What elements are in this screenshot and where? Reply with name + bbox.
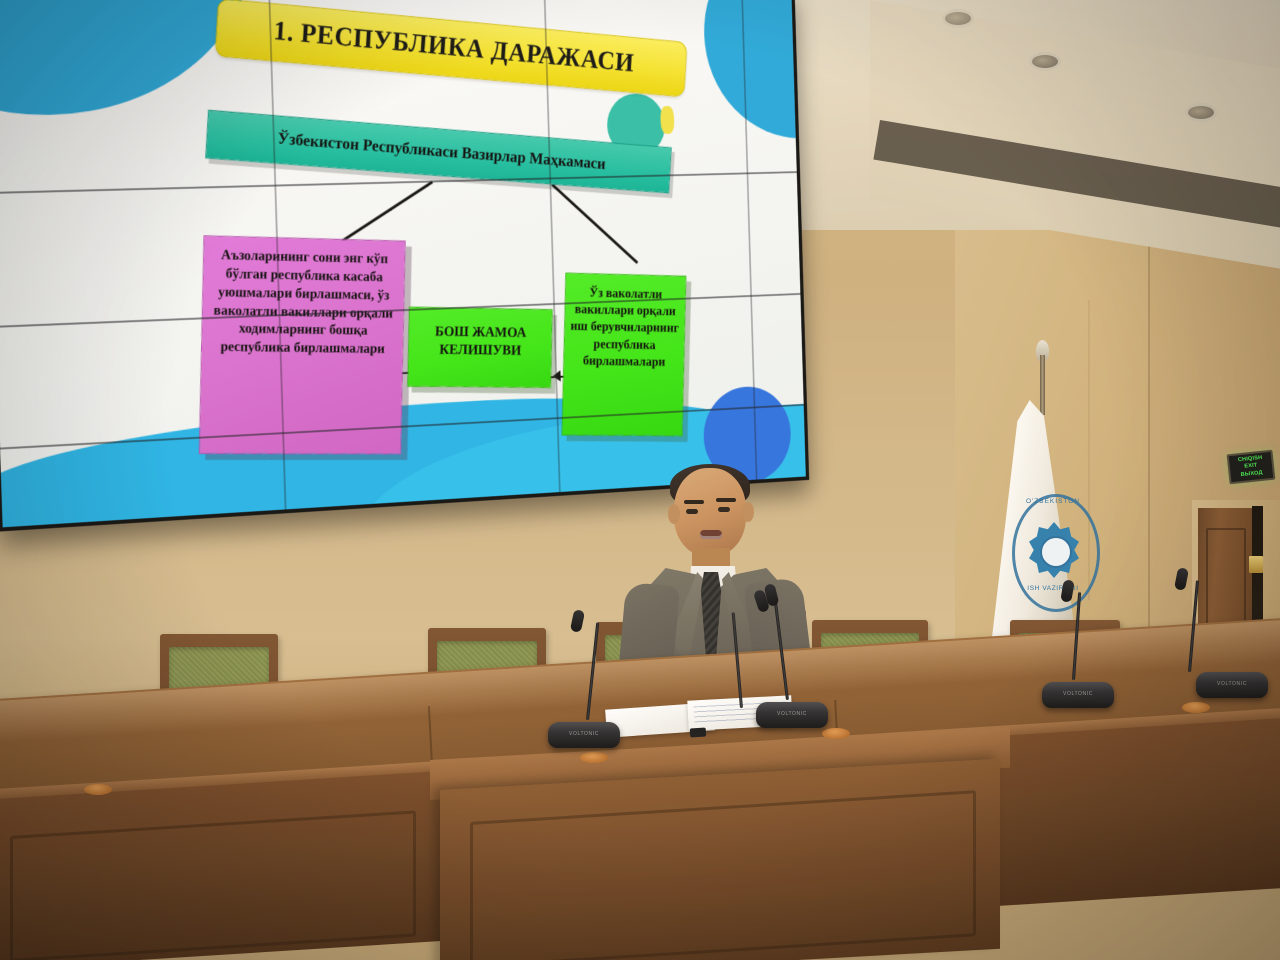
connector-line-right [551,183,638,264]
presenter-eye [686,509,698,514]
led-video-wall[interactable]: 1. РЕСПУБЛИКА ДАРАЖАСИ Ўзбекистон Респуб… [0,0,809,532]
exit-sign-line-3: ВЫХОД [1240,469,1263,478]
ceiling-speaker-icon [1032,55,1058,68]
microphone-base: VOLTONIC [1042,682,1114,708]
flag-emblem-bottom-text: ISH VAZIRLIGI [1005,585,1101,592]
table-cable-port [84,784,112,795]
video-wall-display: 1. РЕСПУБЛИКА ДАРАЖАСИ Ўзбекистон Респуб… [0,0,806,527]
table-cable-port [822,728,850,739]
presenter-mouth [700,530,722,539]
ceiling-speaker-icon [945,12,971,25]
paper-clip-icon [690,727,707,737]
flag-pole [1040,355,1045,415]
presentation-slide: 1. РЕСПУБЛИКА ДАРАЖАСИ Ўзбекистон Респуб… [0,0,806,527]
slide-title-text: 1. РЕСПУБЛИКА ДАРАЖАСИ [216,0,687,94]
ceiling-speaker-icon [1188,106,1214,119]
presenter-ear [668,504,680,524]
table-front-molding [10,810,416,960]
table-cable-port [580,752,608,763]
presenter-brow [716,498,736,502]
presenter-eye [718,507,730,512]
diagram-box-trade-unions-label: Аъзоларининг сони энг кўп бўлган республ… [202,236,405,359]
exit-sign: CHIQISH EXIT ВЫХОД [1227,450,1276,485]
decorative-blob-cyan-top-right [701,0,806,140]
microphone-base: VOLTONIC [1196,672,1268,698]
diagram-box-general-agreement: БОШ ЖАМОА КЕЛИШУВИ [407,307,552,388]
microphone-brand-label: VOLTONIC [756,711,828,717]
flag-emblem-top-text: O'ZBEKISTON [1012,498,1094,505]
presenter-head [674,468,746,556]
microphone-brand-label: VOLTONIC [1196,681,1268,687]
diagram-box-general-agreement-label: БОШ ЖАМОА КЕЛИШУВИ [409,308,552,361]
door-hinge-icon [1249,556,1263,573]
microphone-brand-label: VOLTONIC [1042,691,1114,697]
flag-emblem-core-icon [1040,536,1072,568]
slide-title-banner: 1. РЕСПУБЛИКА ДАРАЖАСИ [215,0,688,97]
conference-hall-scene: 1. РЕСПУБЛИКА ДАРАЖАСИ Ўзбекистон Респуб… [0,0,1280,960]
presenter-ear [742,502,754,522]
presenter-brow [684,500,704,504]
video-wall-panel-seam [0,170,806,195]
microphone-brand-label: VOLTONIC [548,731,620,737]
diagram-box-trade-unions: Аъзоларининг сони энг кўп бўлган республ… [199,235,406,454]
decorative-shape-yellow [660,106,674,134]
microphone-base: VOLTONIC [548,722,620,748]
table-cable-port [1182,702,1210,713]
microphone-base: VOLTONIC [756,702,828,728]
diagram-box-employers-association-label: Ўз ваколатли вакиллари орқали иш берувчи… [564,274,686,372]
